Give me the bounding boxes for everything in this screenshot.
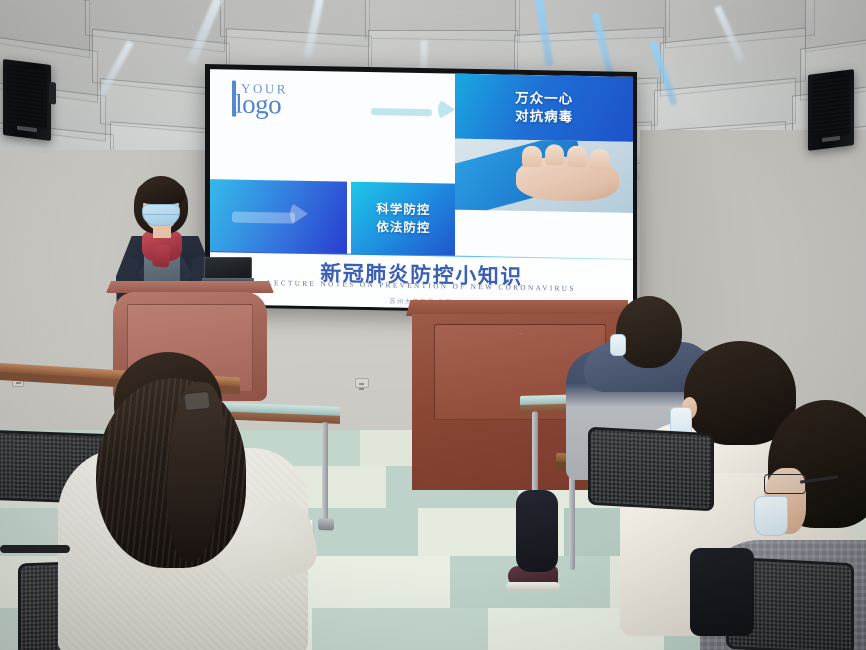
right-speaker <box>808 69 854 151</box>
wall-outlet <box>355 378 369 388</box>
presentation-slide: YOUR logo 万众一心 对抗病毒 <box>210 69 633 312</box>
slogan-line-2: 对抗病毒 <box>515 108 573 124</box>
slide-slogan-box: 万众一心 对抗病毒 <box>455 74 633 143</box>
policy-line-1: 科学防控 <box>376 203 430 218</box>
slide-middle-row: 科学防控 依法防控 <box>210 180 455 257</box>
student-glasses <box>183 391 211 412</box>
student-legs <box>690 548 754 636</box>
slogan-line-1: 万众一心 <box>515 90 573 106</box>
presenter-face-mask <box>142 204 180 226</box>
left-speaker <box>3 59 51 141</box>
laptop-screen <box>204 257 252 279</box>
logo-bottom-text: logo <box>235 90 281 118</box>
slide-hand-photo <box>455 139 633 213</box>
slide-logo: YOUR logo <box>231 76 358 136</box>
classroom-photo-scene: YOUR logo 万众一心 对抗病毒 <box>0 0 866 650</box>
presenter-fringe <box>137 180 185 204</box>
hand-shape <box>516 156 619 202</box>
student-front-left <box>40 352 340 650</box>
slide-slogan-text: 万众一心 对抗病毒 <box>515 89 573 127</box>
chair-arm-left[interactable] <box>0 545 70 559</box>
student-face-mask <box>610 334 626 356</box>
chair-back-right[interactable] <box>588 427 714 512</box>
shoe-sole <box>506 582 560 591</box>
student-glasses <box>764 474 806 494</box>
slide-subtitle: LECTURE NOTES ON PREVENTION OF NEW CORON… <box>267 279 576 293</box>
slide-policy-panel: 科学防控 依法防控 <box>351 182 455 257</box>
projection-screen: YOUR logo 万众一心 对抗病毒 <box>205 64 637 315</box>
policy-line-2: 依法防控 <box>376 220 430 235</box>
arrow-right-icon <box>371 97 456 129</box>
student-face-mask <box>754 496 788 536</box>
laptop[interactable] <box>202 257 254 283</box>
slide-arrow-panel <box>210 180 347 255</box>
student-legs-dark <box>516 490 558 572</box>
